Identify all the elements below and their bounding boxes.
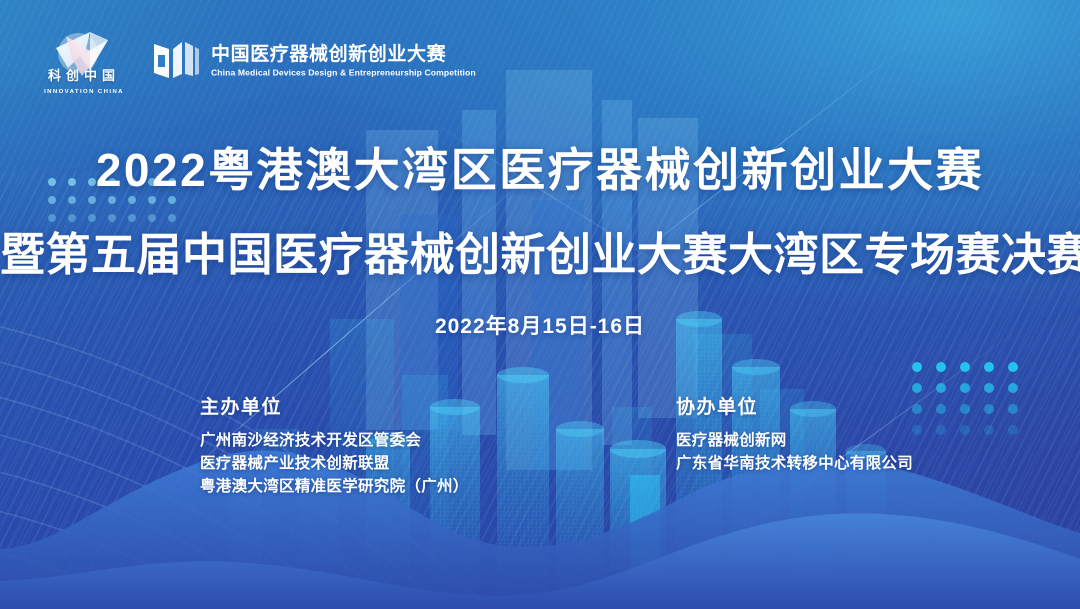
logo-innovation-china-en: INNOVATION CHINA xyxy=(38,89,130,94)
logo-competition-cn: 中国医疗器械创新创业大赛 xyxy=(211,44,476,66)
co-host-organizer-block: 协办单位 医疗器械创新网 广东省华南技术转移中心有限公司 xyxy=(676,392,913,475)
logo-innovation-china-cn: 科创中国 xyxy=(38,65,130,84)
poster-date: 2022年8月15日-16日 xyxy=(0,310,1080,340)
event-poster: 科创中国 INNOVATION CHINA 中国医疗器械创新创业大赛 China… xyxy=(0,0,1080,609)
dot-grid-right xyxy=(912,362,1032,446)
logo-competition-en: China Medical Devices Design & Entrepren… xyxy=(211,68,476,78)
host-organizer-block: 主办单位 广州南沙经济技术开发区管委会 医疗器械产业技术创新联盟 粤港澳大湾区精… xyxy=(200,392,469,498)
host-organizer-heading: 主办单位 xyxy=(200,392,469,419)
cmdd-door-mark-icon xyxy=(152,40,200,82)
host-organizer-line: 广州南沙经济技术开发区管委会 xyxy=(200,429,469,452)
logo-innovation-china: 科创中国 INNOVATION CHINA xyxy=(38,26,130,96)
wave-hills-graphic xyxy=(0,429,1080,609)
header-logos: 科创中国 INNOVATION CHINA 中国医疗器械创新创业大赛 China… xyxy=(38,26,476,96)
poster-title-line1: 2022粤港澳大湾区医疗器械创新创业大赛 xyxy=(0,134,1080,200)
host-organizer-line: 粤港澳大湾区精准医学研究院（广州） xyxy=(200,475,469,498)
co-host-organizer-line: 广东省华南技术转移中心有限公司 xyxy=(676,452,913,475)
co-host-organizer-heading: 协办单位 xyxy=(676,392,913,419)
logo-competition: 中国医疗器械创新创业大赛 China Medical Devices Desig… xyxy=(152,40,476,82)
poster-title-line2: 暨第五届中国医疗器械创新创业大赛大湾区专场赛决赛 xyxy=(0,218,1080,283)
host-organizer-line: 医疗器械产业技术创新联盟 xyxy=(200,452,469,475)
co-host-organizer-line: 医疗器械创新网 xyxy=(676,429,913,452)
